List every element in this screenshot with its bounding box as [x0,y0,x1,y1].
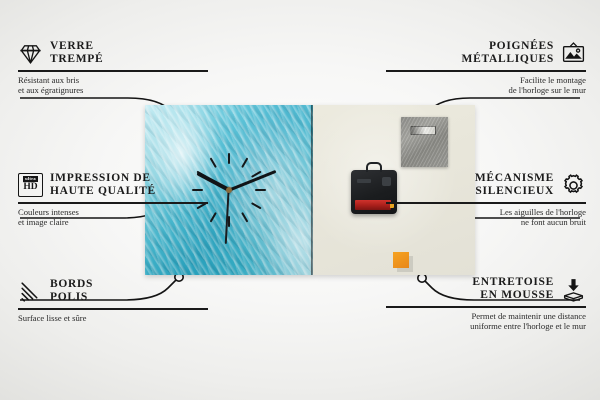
feature-title-line1: POIGNÉES [462,40,554,53]
feature-sub-line2: et image claire [18,217,208,228]
gear-icon [561,173,586,198]
feature-sub-line1: Permet de maintenir une distance [386,311,586,322]
feature-sub-line1: Les aiguilles de l'horloge [386,207,586,218]
feature-title-line2: HAUTE QUALITÉ [50,185,156,198]
ultra-hd-icon: ultra HD [18,173,43,198]
feature-poignees-metalliques: POIGNÉES MÉTALLIQUES Facilite le montage… [386,40,586,96]
mechanism-hook [366,162,382,172]
feature-title-line2: SILENCIEUX [475,185,554,198]
feature-verre-trempe: VERRE TREMPÉ Résistant aux bris et aux é… [18,40,208,96]
feature-sub-line2: uniforme entre l'horloge et le mur [386,321,586,332]
feature-sub-line2: de l'horloge sur le mur [386,85,586,96]
feature-title-line2: TREMPÉ [50,53,103,66]
mechanism-slot [357,179,371,183]
feature-rule [386,202,586,204]
feature-title-line1: BORDS [50,278,93,291]
foam-spacer-icon [561,277,586,302]
metal-bracket-part [401,117,448,167]
feature-rule [18,202,208,204]
feature-sub-line2: et aux égratignures [18,85,208,96]
feature-sub-line1: Résistant aux bris [18,75,208,86]
feature-title-line2: POLIS [50,291,93,304]
feature-impression-haute-qualite: ultra HD IMPRESSION DE HAUTE QUALITÉ Cou… [18,172,208,228]
feature-mecanisme-silencieux: MÉCANISME SILENCIEUX Les aiguilles de l'… [386,172,586,228]
feature-rule [386,70,586,72]
feature-rule [18,70,208,72]
feature-title-line2: EN MOUSSE [472,289,554,302]
feature-sub-line1: Couleurs intenses [18,207,208,218]
ultra-hd-large-text: HD [23,183,37,193]
feature-entretoise-en-mousse: ENTRETOISE EN MOUSSE Permet de maintenir… [386,276,586,332]
feature-title-line1: VERRE [50,40,103,53]
clock-center-cap [226,187,232,193]
feature-title-line2: MÉTALLIQUES [462,53,554,66]
feature-title-line1: MÉCANISME [475,172,554,185]
feature-rule [386,306,586,308]
infographic-canvas: VERRE TREMPÉ Résistant aux bris et aux é… [0,0,600,400]
picture-hanger-icon [561,41,586,66]
feature-title-line1: IMPRESSION DE [50,172,156,185]
feature-bords-polis: BORDS POLIS Surface lisse et sûre [18,278,208,323]
feature-sub-line1: Surface lisse et sûre [18,313,208,324]
foam-spacer-part [393,252,409,268]
feature-sub-line2: ne font aucun bruit [386,217,586,228]
feature-rule [18,308,208,310]
feature-sub-line1: Facilite le montage [386,75,586,86]
feature-title-line1: ENTRETOISE [472,276,554,289]
diamond-icon [18,41,43,66]
polished-edges-icon [18,279,43,304]
